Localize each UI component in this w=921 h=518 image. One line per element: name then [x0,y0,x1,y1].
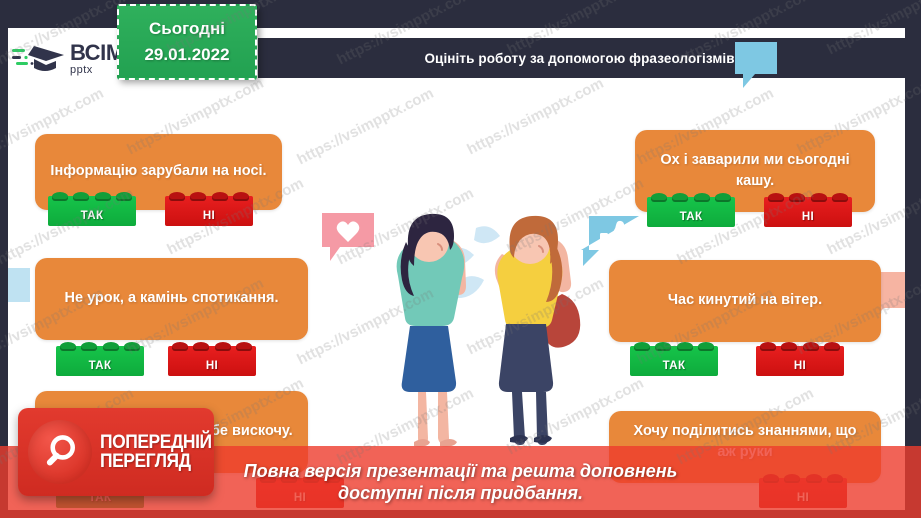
lego-studs [768,193,848,202]
yes-button-3[interactable]: ТАК [56,346,144,376]
bubble-top-right-icon [733,38,777,94]
header-bar: Оцініть роботу за допомогою фразеологізм… [258,38,905,78]
brand-name: ВСІМ [70,42,124,64]
lego-studs [172,342,252,351]
preview-badge: ПОПЕРЕДНІЙ ПЕРЕГЛЯД [18,408,214,496]
no-label-4: НІ [794,360,806,372]
no-button-1[interactable]: НІ [165,196,253,226]
no-label-2: НІ [802,211,814,223]
statement-text-2: Ох і заварили ми сьогодні кашу. [649,150,861,192]
magnifier-icon [28,420,92,484]
yes-button-2[interactable]: ТАК [647,197,735,227]
purchase-banner-line1: Повна версія презентації та решта доповн… [244,460,678,483]
lego-studs [651,193,731,202]
slide-root: ВСІМ pptx Оцініть роботу за допомогою фр… [0,0,921,518]
purchase-banner-text: Повна версія презентації та решта доповн… [244,460,678,505]
lego-studs [169,192,249,201]
statement-text-3: Не урок, а камінь спотикання. [65,288,279,309]
date-badge-label: Сьогодні [149,19,225,39]
no-button-2[interactable]: НІ [764,197,852,227]
statement-card-4: Час кинутий на вітер. [609,260,881,342]
statement-text-4: Час кинутий на вітер. [668,290,822,311]
no-label-3: НІ [206,360,218,372]
yes-button-1[interactable]: ТАК [48,196,136,226]
lego-studs [634,342,714,351]
no-label-1: НІ [203,210,215,222]
statement-card-3: Не урок, а камінь спотикання. [35,258,308,340]
yes-label-3: ТАК [89,360,112,372]
brand-sub: pptx [70,65,124,76]
preview-badge-line2: ПЕРЕГЛЯД [100,452,212,471]
lego-studs [760,342,840,351]
yes-button-4[interactable]: ТАК [630,346,718,376]
bubble-partial-left-icon [8,264,36,318]
no-button-4[interactable]: НІ [756,346,844,376]
preview-badge-text: ПОПЕРЕДНІЙ ПЕРЕГЛЯД [100,433,221,472]
no-button-3[interactable]: НІ [168,346,256,376]
purchase-banner-line2: доступні після придбання. [244,482,678,505]
heart-bubble-icon [320,211,380,267]
yes-label-4: ТАК [663,360,686,372]
date-badge-value: 29.01.2022 [144,45,229,65]
lego-studs [60,342,140,351]
brand-logo-text: ВСІМ pptx [70,42,124,76]
statement-text-1: Інформацію зарубали на носі. [50,161,266,182]
date-badge: Сьогодні 29.01.2022 [117,4,257,80]
yes-label-1: ТАК [81,210,104,222]
lego-studs [52,192,132,201]
page-title: Оцініть роботу за допомогою фразеологізм… [424,51,738,66]
graduation-cap-icon [12,42,66,76]
yes-label-2: ТАК [680,211,703,223]
preview-badge-line1: ПОПЕРЕДНІЙ [100,433,212,452]
